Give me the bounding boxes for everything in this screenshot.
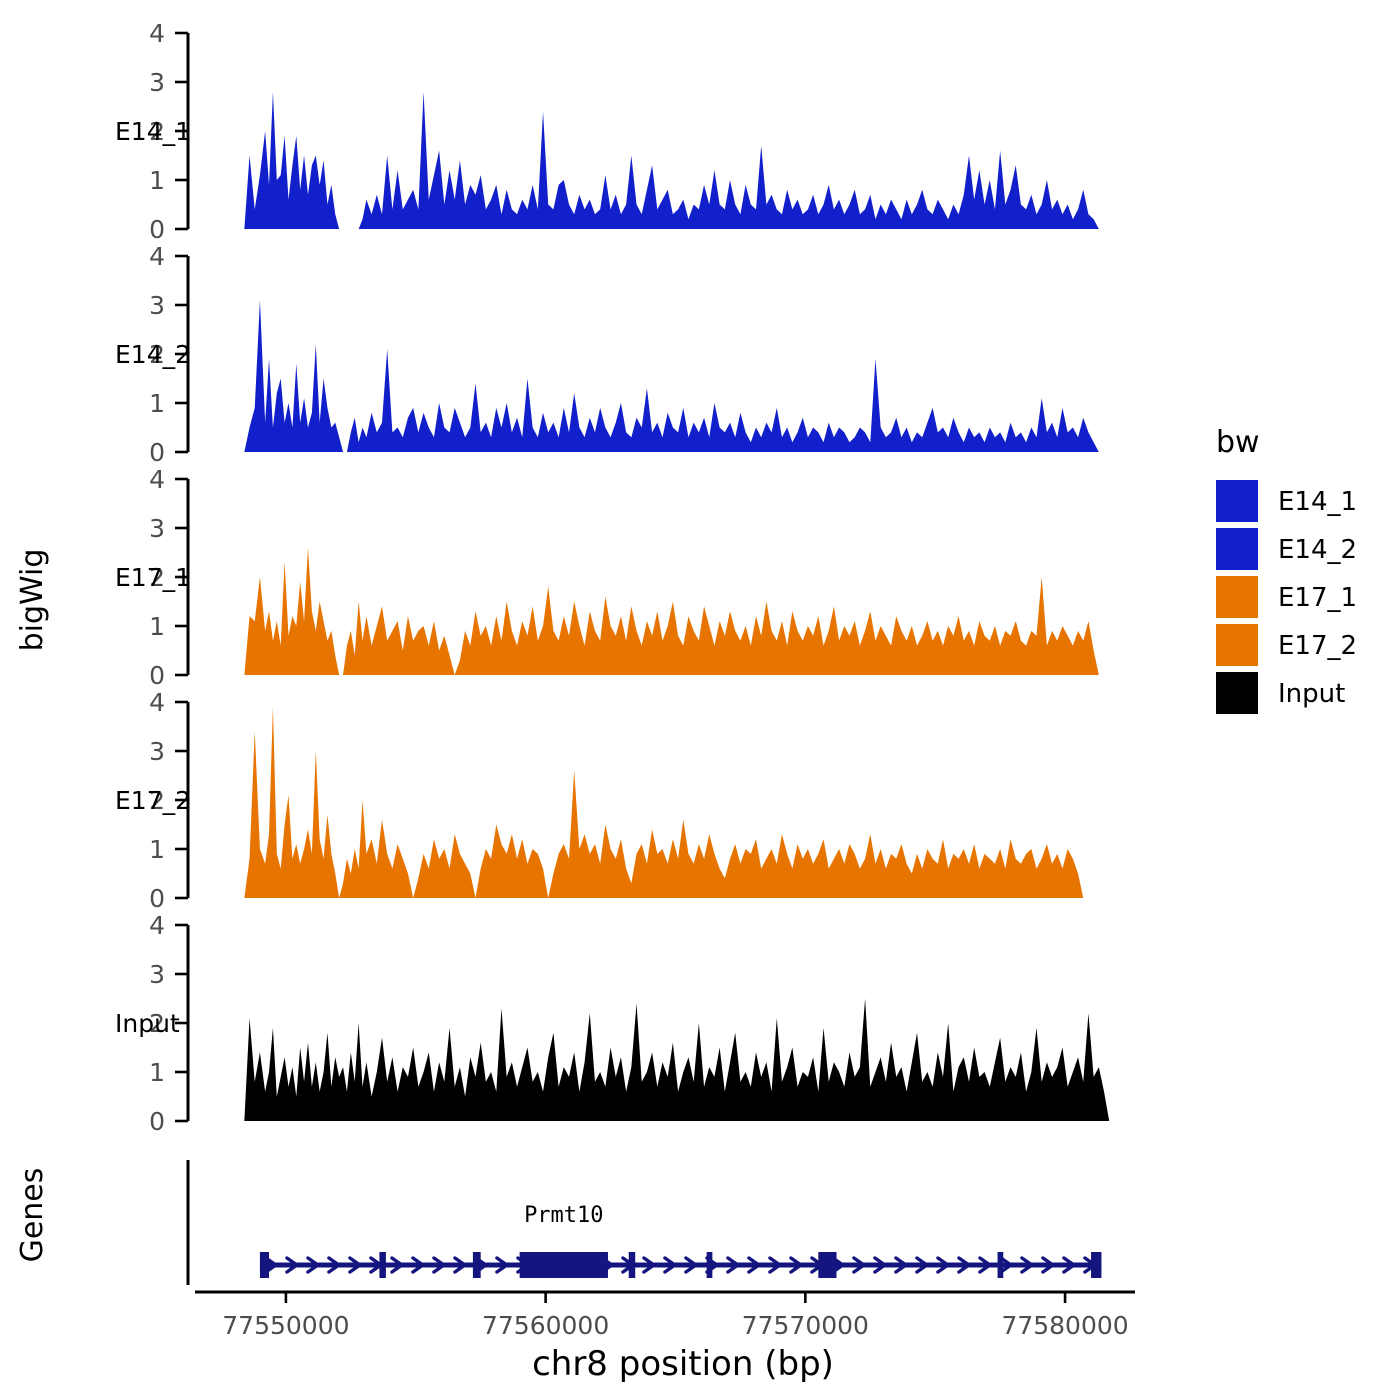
y-tick-label: 3 (149, 737, 165, 766)
legend-swatch-e14_1[interactable] (1216, 480, 1258, 522)
y-tick-label: 0 (149, 884, 165, 913)
y-tick-label: 1 (149, 166, 165, 195)
legend-swatch-e17_1[interactable] (1216, 576, 1258, 618)
y-tick-label: 1 (149, 389, 165, 418)
legend-label-e14_1: E14_1 (1278, 487, 1357, 517)
legend-swatch-e14_2[interactable] (1216, 528, 1258, 570)
y-tick-label: 1 (149, 835, 165, 864)
gene-exon[interactable] (260, 1252, 269, 1278)
y-tick-label: 0 (149, 1107, 165, 1136)
y-tick-label: 4 (149, 465, 165, 494)
genes-axis-title: Genes (15, 1168, 50, 1263)
y-tick-label: 3 (149, 291, 165, 320)
gene-exon[interactable] (520, 1252, 608, 1278)
x-tick-label: 77550000 (222, 1311, 349, 1340)
legend-label-e14_2: E14_2 (1278, 535, 1357, 565)
gene-name-label: Prmt10 (524, 1203, 603, 1228)
track-label-e17_1: E17_1 (115, 563, 191, 592)
x-tick-label: 77570000 (742, 1311, 869, 1340)
gene-intron-line (260, 1263, 1102, 1268)
track-label-e17_2: E17_2 (115, 786, 191, 815)
track-label-e14_2: E14_2 (115, 340, 191, 369)
legend-label-input: Input (1278, 679, 1345, 709)
y-tick-label: 4 (149, 911, 165, 940)
gene-exon[interactable] (379, 1252, 385, 1278)
legend-label-e17_1: E17_1 (1278, 583, 1357, 613)
y-tick-label: 1 (149, 612, 165, 641)
gene-exon[interactable] (473, 1252, 481, 1278)
y-tick-label: 0 (149, 661, 165, 690)
y-tick-label: 3 (149, 514, 165, 543)
y-tick-label: 3 (149, 960, 165, 989)
x-axis-title: chr8 position (bp) (532, 1344, 834, 1384)
x-tick-label: 77560000 (482, 1311, 609, 1340)
legend-swatch-input[interactable] (1216, 672, 1258, 714)
y-tick-label: 0 (149, 215, 165, 244)
y-tick-label: 4 (149, 688, 165, 717)
legend-label-e17_2: E17_2 (1278, 631, 1357, 661)
gene-exon[interactable] (707, 1252, 713, 1278)
track-label-e14_1: E14_1 (115, 117, 191, 146)
gene-exon[interactable] (1091, 1252, 1101, 1278)
figure-root: bigWig Genes chr8 position (bp) 01234E14… (0, 0, 1400, 1400)
y-tick-label: 1 (149, 1058, 165, 1087)
y-tick-label: 3 (149, 68, 165, 97)
gene-exon[interactable] (818, 1252, 836, 1278)
legend-swatch-e17_2[interactable] (1216, 624, 1258, 666)
y-axis-title: bigWig (15, 549, 50, 652)
y-tick-label: 4 (149, 242, 165, 271)
x-tick-label: 77580000 (1001, 1311, 1128, 1340)
legend-title: bw (1216, 425, 1260, 460)
track-label-input: Input (115, 1009, 180, 1038)
y-tick-label: 0 (149, 438, 165, 467)
y-tick-label: 4 (149, 19, 165, 48)
gene-exon[interactable] (629, 1252, 635, 1278)
gene-exon[interactable] (998, 1252, 1004, 1278)
genome-browser-figure: bigWig Genes chr8 position (bp) 01234E14… (0, 0, 1400, 1400)
